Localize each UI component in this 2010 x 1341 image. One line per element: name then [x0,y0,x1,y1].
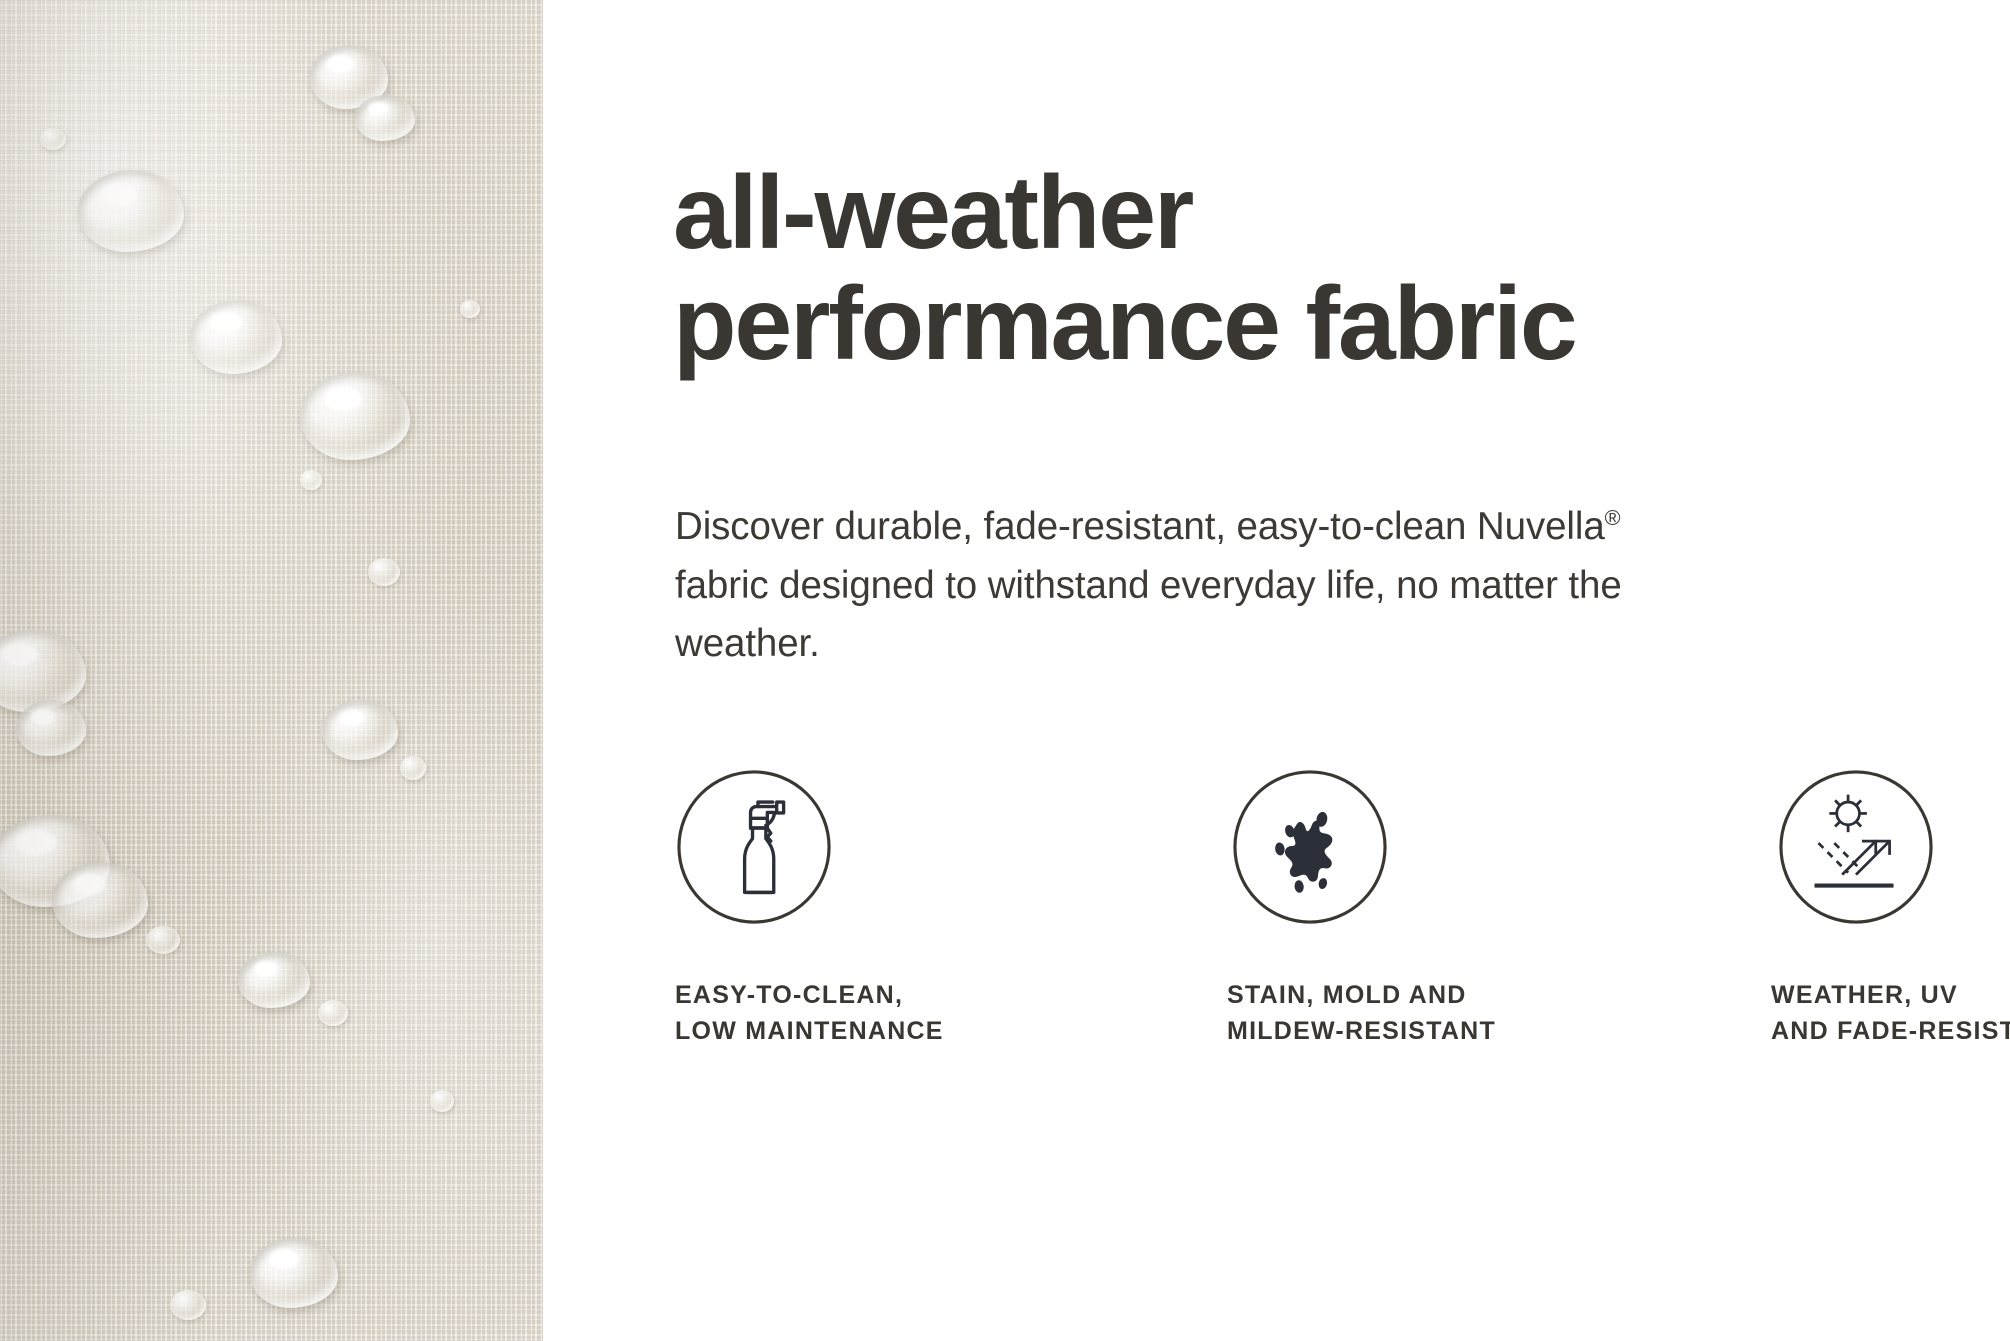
feature-caption-line-1: EASY-TO-CLEAN, [675,978,1031,1014]
stain-splatter-icon [1231,768,1389,926]
feature-caption: STAIN, MOLD AND MILDEW-RESISTANT [1227,978,1387,1049]
feature-caption-line-2: LOW MAINTENANCE [675,1014,1031,1050]
registered-trademark-mark: ® [1605,505,1621,530]
feature-easy-to-clean: EASY-TO-CLEAN, LOW MAINTENANCE [675,768,1031,1049]
photo-shading-overlay [0,0,543,1341]
subcopy-part-2: fabric designed to withstand everyday li… [675,564,1622,666]
headline-line-1: all-weather [673,158,1576,269]
feature-list: EASY-TO-CLEAN, LOW MAINTENANCE STAIN, MO… [675,768,1965,1049]
subcopy-paragraph: Discover durable, fade-resistant, easy-t… [675,498,1665,674]
feature-uv-fade-resistant: WEATHER, UV AND FADE-RESISTANT [1387,768,1743,1049]
spray-bottle-icon [675,768,833,926]
feature-caption: EASY-TO-CLEAN, LOW MAINTENANCE [675,978,1031,1049]
content-pane: all-weather performance fabric Discover … [543,0,2010,1341]
feature-stain-resistant: STAIN, MOLD AND MILDEW-RESISTANT [1031,768,1387,1049]
feature-caption-line-2: MILDEW-RESISTANT [1227,1014,1387,1050]
feature-caption-line-1: STAIN, MOLD AND [1227,978,1387,1014]
fabric-photo [0,0,543,1341]
page-title: all-weather performance fabric [673,158,1576,381]
all-weather-fabric-banner: all-weather performance fabric Discover … [0,0,2010,1341]
headline-line-2: performance fabric [673,269,1576,380]
subcopy-part-1: Discover durable, fade-resistant, easy-t… [675,505,1605,548]
sun-uv-fade-icon [1777,768,1935,926]
